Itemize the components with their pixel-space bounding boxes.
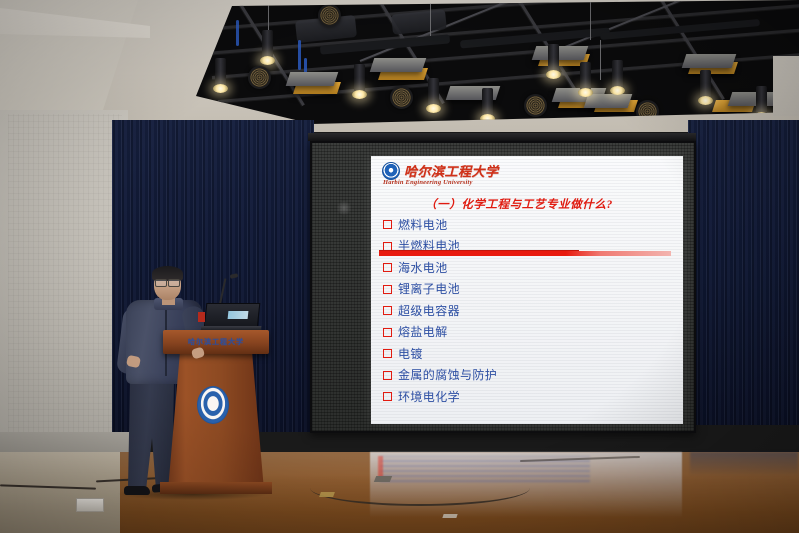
par-can-icon	[524, 94, 547, 117]
list-item: 电镀	[383, 343, 675, 365]
slide-title: （一）化学工程与工艺专业做什么?	[425, 196, 677, 212]
downlight-icon	[262, 30, 273, 60]
downlight-icon	[700, 70, 711, 100]
list-item: 环境电化学	[383, 386, 675, 408]
par-can-icon	[248, 66, 271, 89]
downlight-icon	[612, 60, 623, 90]
podium-control-button[interactable]	[198, 312, 205, 322]
list-item-label: 锂离子电池	[398, 283, 460, 295]
par-can-icon	[318, 4, 341, 27]
checkbox-icon	[383, 285, 392, 294]
slide-bullet-list: 燃料电池 半燃料电池 海水电池 锂离子电池 超级电容器 熔盐电解	[383, 214, 675, 408]
checkbox-icon	[383, 263, 392, 272]
downlight-icon	[580, 62, 591, 92]
floor-tape-marker	[319, 492, 335, 497]
list-item: 海水电池	[383, 257, 675, 279]
downlight-icon	[215, 58, 226, 88]
downlight-icon	[548, 44, 559, 74]
glasses-icon	[155, 279, 180, 285]
list-item: 超级电容器	[383, 300, 675, 322]
floor-power-box	[76, 498, 104, 512]
checkbox-icon	[383, 371, 392, 380]
university-seal-icon	[197, 386, 229, 424]
list-item: 熔盐电解	[383, 322, 675, 344]
checkbox-icon	[383, 328, 392, 337]
downlight-icon	[482, 88, 493, 118]
list-item-label: 熔盐电解	[398, 326, 448, 338]
slide-logo-header: 哈尔滨工程大学	[382, 162, 499, 180]
list-item: 锂离子电池	[383, 279, 675, 301]
downlight-icon	[428, 78, 439, 108]
laptop-screen-glow	[228, 311, 249, 319]
checkbox-icon	[383, 220, 392, 229]
par-can-icon	[390, 86, 413, 109]
screen-top-rail	[308, 133, 696, 141]
lecture-hall-photo: 哈尔滨工程大学 Harbin Engineering University （一…	[0, 0, 799, 533]
podium-base	[160, 482, 272, 494]
list-item-label: 海水电池	[398, 262, 448, 274]
downlight-icon	[354, 64, 365, 94]
checkbox-icon	[383, 306, 392, 315]
list-item-label: 燃料电池	[398, 219, 448, 231]
list-item-label: 超级电容器	[398, 305, 460, 317]
highlight-underline-bar	[379, 251, 671, 256]
university-seal-icon	[382, 162, 400, 180]
list-item-label: 电镀	[398, 348, 423, 360]
podium-name-text: 哈尔滨工程大学	[178, 337, 254, 347]
downlight-icon	[756, 86, 767, 116]
floor-cable-plate	[374, 476, 392, 482]
floor-small-object	[442, 514, 457, 518]
screen-smudge	[336, 201, 352, 215]
floor-cable-curve	[310, 470, 530, 506]
presentation-slide: 哈尔滨工程大学 Harbin Engineering University （一…	[371, 156, 683, 424]
stage-curtain-right	[688, 120, 799, 425]
list-item: 燃料电池	[383, 214, 675, 236]
right-wall-strip	[773, 56, 799, 116]
left-acoustic-wall	[0, 110, 128, 460]
speaker-shoe	[124, 486, 150, 495]
checkbox-icon	[383, 349, 392, 358]
list-item: 金属的腐蚀与防护	[383, 365, 675, 387]
list-item-label: 环境电化学	[398, 391, 460, 403]
checkbox-icon	[383, 392, 392, 401]
university-name-en: Harbin Engineering University	[383, 179, 473, 186]
list-item-label: 金属的腐蚀与防护	[398, 369, 497, 381]
university-name-cn: 哈尔滨工程大学	[404, 165, 499, 178]
